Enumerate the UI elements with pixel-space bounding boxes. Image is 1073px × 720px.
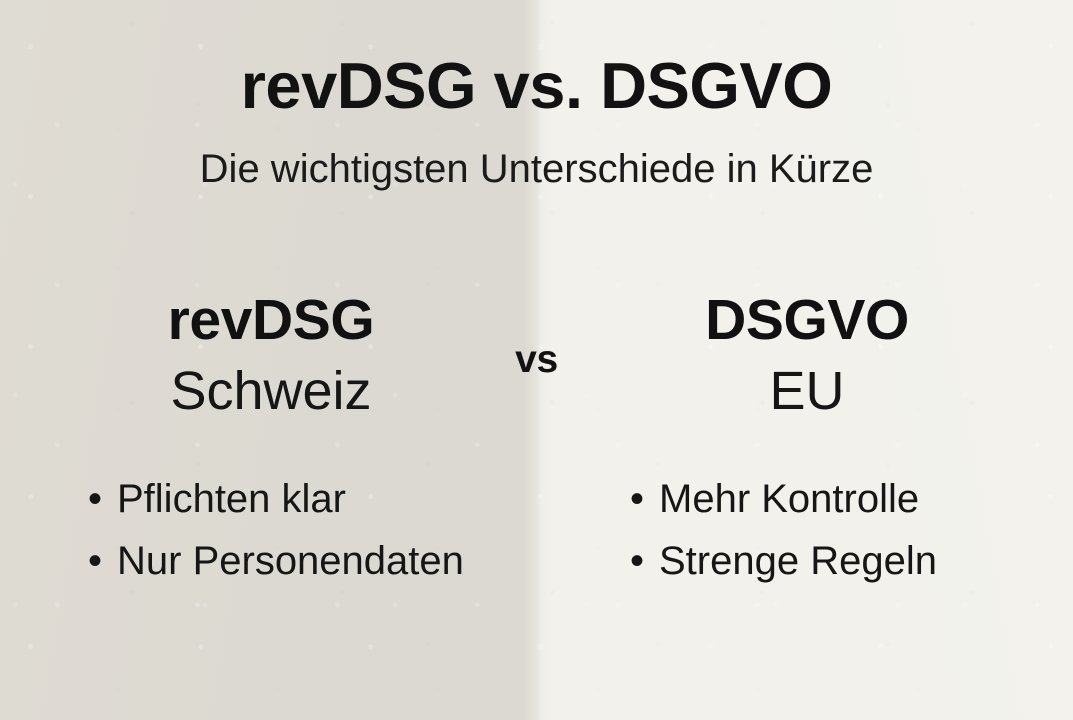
bullet-label: Mehr Kontrolle [659,472,919,526]
list-item: • Mehr Kontrolle [630,472,937,526]
bullet-dot-icon: • [88,472,117,526]
bullet-list-dsgvo: • Mehr Kontrolle • Strenge Regeln [630,472,937,596]
comparison-infographic: revDSG vs. DSGVO Die wichtigsten Untersc… [0,0,1073,720]
header-block: revDSG vs. DSGVO Die wichtigsten Untersc… [0,52,1073,191]
list-item: • Strenge Regeln [630,534,937,588]
page-title: revDSG vs. DSGVO [0,52,1073,121]
list-item: • Pflichten klar [88,472,464,526]
bullet-label: Nur Personendaten [117,534,464,588]
bullet-dot-icon: • [630,534,659,588]
bullet-list-revdsg: • Pflichten klar • Nur Personendaten [88,472,464,596]
versus-separator-label: vs [0,338,1073,382]
bullet-label: Pflichten klar [117,472,346,526]
list-item: • Nur Personendaten [88,534,464,588]
page-subtitle: Die wichtigsten Unterschiede in Kürze [0,147,1073,191]
bullet-dot-icon: • [88,534,117,588]
bullet-dot-icon: • [630,472,659,526]
content-layer: revDSG vs. DSGVO Die wichtigsten Untersc… [0,0,1073,720]
bullet-label: Strenge Regeln [659,534,937,588]
